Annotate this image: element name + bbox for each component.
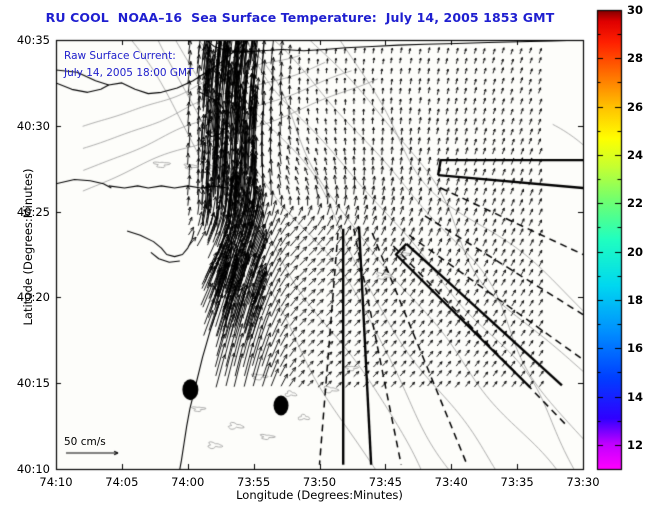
y-tick-label: 40:10 [8,462,50,476]
x-tick-label: 74:05 [105,475,138,489]
x-tick-label: 74:10 [39,475,72,489]
x-axis-title: Longitude (Degrees:Minutes) [56,488,583,502]
y-tick-label: 40:35 [8,33,50,47]
colorbar-tick-label: 22 [627,196,643,210]
colorbar-tick-label: 30 [627,3,643,17]
x-tick-label: 73:40 [435,475,468,489]
annotation-line-2: July 14, 2005 18:00 GMT [64,67,194,79]
colorbar-tick-label: 26 [627,100,643,114]
y-tick-label: 40:20 [8,290,50,304]
x-tick-label: 73:30 [566,475,599,489]
x-tick-label: 73:50 [303,475,336,489]
x-tick-label: 74:00 [171,475,204,489]
colorbar-tick-label: 18 [627,293,643,307]
colorbar-tick-label: 16 [627,341,643,355]
y-tick-label: 40:30 [8,119,50,133]
x-tick-label: 73:35 [501,475,534,489]
vector-scale-label: 50 cm/s [64,436,106,448]
colorbar-tick-label: 24 [627,148,643,162]
y-axis-title: Latitude (Degrees:Minutes) [21,147,35,347]
colorbar-tick-label: 20 [627,245,643,259]
y-tick-label: 40:15 [8,376,50,390]
annotation-line-1: Raw Surface Current: [64,50,176,62]
figure-root: RU COOL NOAA–16 Sea Surface Temperature:… [0,0,651,518]
colorbar-tick-label: 14 [627,390,643,404]
x-tick-label: 73:55 [237,475,270,489]
y-tick-label: 40:25 [8,205,50,219]
colorbar-tick-label: 12 [627,438,643,452]
x-tick-label: 73:45 [369,475,402,489]
colorbar-tick-label: 28 [627,51,643,65]
